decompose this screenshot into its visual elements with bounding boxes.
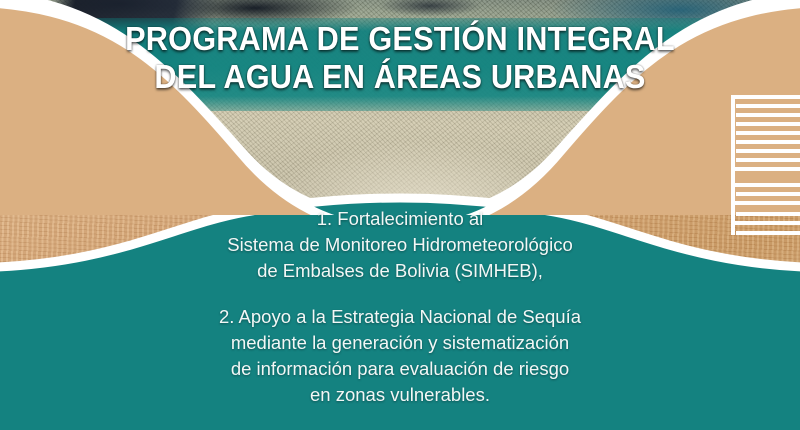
item-2-line-1: 2. Apoyo a la Estrategia Nacional de Seq… (0, 304, 800, 330)
item-2-line-2: mediante la generación y sistematización (0, 330, 800, 356)
item-1-line-3: de Embalses de Bolivia (SIMHEB), (0, 258, 800, 284)
content-item-2: 2. Apoyo a la Estrategia Nacional de Seq… (0, 304, 800, 408)
poster-title: PROGRAMA DE GESTIÓN INTEGRAL DEL AGUA EN… (28, 20, 772, 96)
content-item-1: 1. Fortalecimiento al Sistema de Monitor… (0, 206, 800, 284)
paragraph-spacer (0, 284, 800, 304)
item-1-line-1: 1. Fortalecimiento al (0, 206, 800, 232)
item-2-line-3: de información para evaluación de riesgo (0, 356, 800, 382)
title-line-2: DEL AGUA EN ÁREAS URBANAS (28, 58, 772, 96)
item-1-line-2: Sistema de Monitoreo Hidrometeorológico (0, 232, 800, 258)
item-2-line-4: en zonas vulnerables. (0, 382, 800, 408)
content-text-block: 1. Fortalecimiento al Sistema de Monitor… (0, 206, 800, 408)
title-line-1: PROGRAMA DE GESTIÓN INTEGRAL (28, 20, 772, 58)
